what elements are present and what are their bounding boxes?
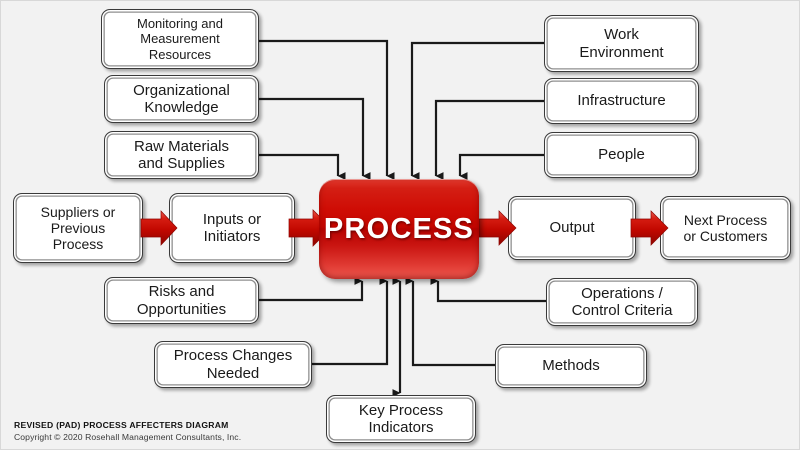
box-key-process-indicators[interactable]: Key Process Indicators — [326, 395, 476, 443]
box-label: Work Environment — [574, 26, 668, 61]
box-next-process-or-customers[interactable]: Next Process or Customers — [660, 196, 791, 260]
box-work-environment[interactable]: Work Environment — [544, 15, 699, 72]
box-infrastructure[interactable]: Infrastructure — [544, 78, 699, 124]
box-risks-and-opportunities[interactable]: Risks and Opportunities — [104, 277, 259, 324]
box-inputs-or-initiators[interactable]: Inputs or Initiators — [169, 193, 295, 263]
process-center-node[interactable]: PROCESS — [319, 179, 479, 279]
box-label: Methods — [537, 357, 605, 374]
box-label: Infrastructure — [572, 92, 670, 109]
box-label: Suppliers or Previous Process — [36, 204, 121, 253]
box-organizational-knowledge[interactable]: Organizational Knowledge — [104, 75, 259, 123]
box-label: Raw Materials and Supplies — [129, 138, 234, 173]
box-process-changes-needed[interactable]: Process Changes Needed — [154, 341, 312, 388]
box-methods[interactable]: Methods — [495, 344, 647, 388]
box-label: Next Process or Customers — [678, 212, 772, 244]
process-affecters-diagram: Monitoring and Measurement Resources Org… — [0, 0, 800, 450]
box-label: Key Process Indicators — [354, 402, 448, 437]
box-raw-materials-and-supplies[interactable]: Raw Materials and Supplies — [104, 131, 259, 179]
box-output[interactable]: Output — [508, 196, 636, 260]
box-label: Inputs or Initiators — [198, 211, 266, 246]
box-label: Organizational Knowledge — [128, 82, 235, 117]
box-suppliers-or-previous-process[interactable]: Suppliers or Previous Process — [13, 193, 143, 263]
box-label: Process Changes Needed — [169, 347, 297, 382]
box-people[interactable]: People — [544, 132, 699, 178]
box-label: Operations / Control Criteria — [567, 285, 678, 320]
process-label: PROCESS — [324, 213, 474, 246]
box-monitoring-measurement-resources[interactable]: Monitoring and Measurement Resources — [101, 9, 259, 69]
footer-copyright: Copyright © 2020 Rosehall Management Con… — [14, 432, 241, 442]
footer-title: REVISED (PAD) PROCESS AFFECTERS DIAGRAM — [14, 420, 241, 430]
box-label: Risks and Opportunities — [132, 283, 231, 318]
box-label: Output — [544, 219, 599, 236]
footer: REVISED (PAD) PROCESS AFFECTERS DIAGRAM … — [14, 420, 241, 442]
box-label: Monitoring and Measurement Resources — [132, 16, 228, 61]
box-label: People — [593, 146, 650, 163]
box-operations-control-criteria[interactable]: Operations / Control Criteria — [546, 278, 698, 326]
